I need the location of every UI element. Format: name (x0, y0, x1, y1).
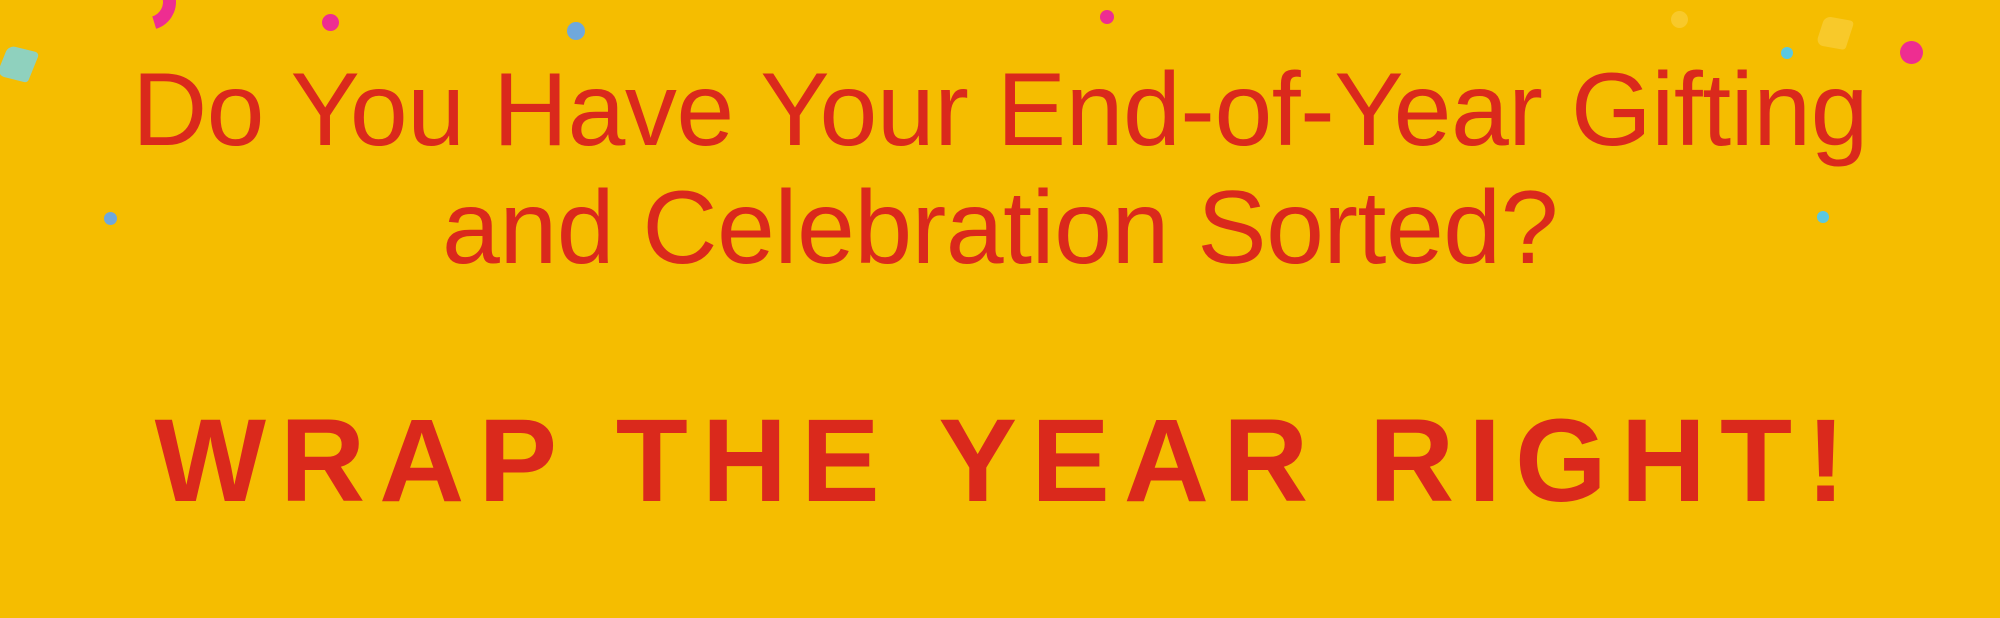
headline-cta: WRAP THE YEAR RIGHT! (0, 398, 2000, 524)
blue-dot-large-icon (567, 22, 585, 40)
headline-question-line-2: and Celebration Sorted? (0, 168, 2000, 288)
magenta-dot-small-icon (1100, 10, 1114, 24)
light-yellow-dot-icon (1671, 11, 1688, 28)
light-yellow-quad-icon (1816, 16, 1855, 50)
promo-banner: Do You Have Your End-of-Year Gifting and… (0, 0, 2000, 618)
headline-question-line-1: Do You Have Your End-of-Year Gifting (0, 50, 2000, 170)
magenta-dot-large-icon (322, 14, 339, 31)
magenta-arc-icon (110, 0, 186, 40)
